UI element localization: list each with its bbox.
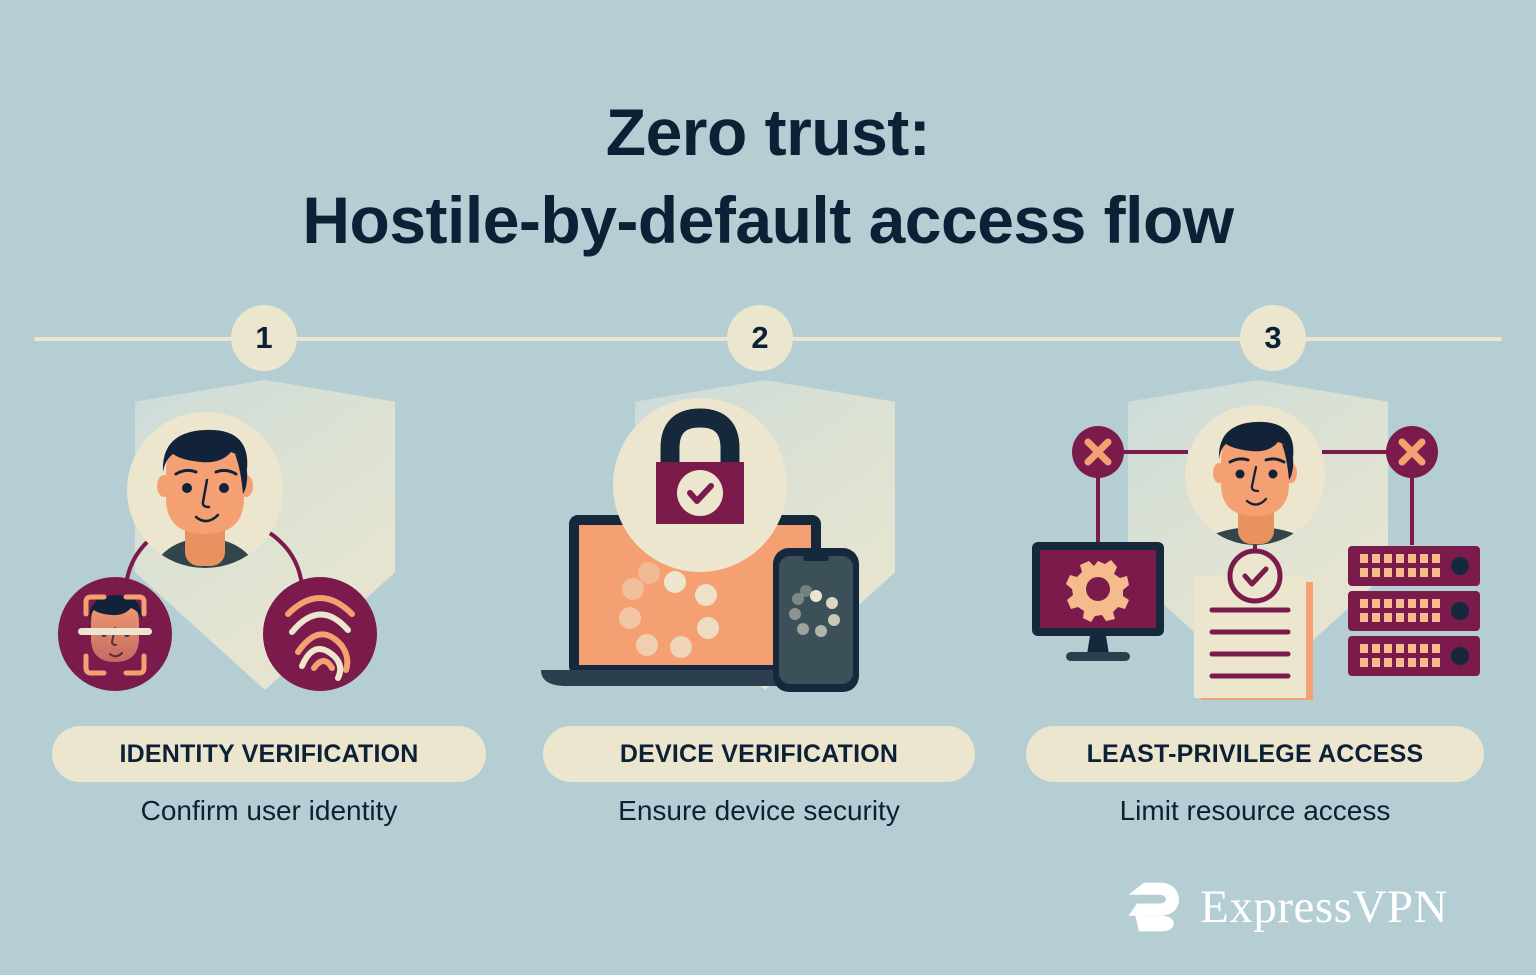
step-number-1: 1 <box>255 320 272 356</box>
step-marker-3: 3 <box>1240 305 1306 371</box>
step-caption-3: Limit resource access <box>1020 795 1490 827</box>
step-caption-1: Confirm user identity <box>34 795 504 827</box>
title-line-2: Hostile-by-default access flow <box>0 176 1536 264</box>
page-title: Zero trust: Hostile-by-default access fl… <box>0 88 1536 264</box>
blocked-x-icon-left <box>1072 426 1124 478</box>
smartphone-icon <box>773 548 859 692</box>
step-marker-2: 2 <box>727 305 793 371</box>
least-privilege-art-svg <box>1020 370 1490 700</box>
fingerprint-icon <box>263 577 377 691</box>
pill-text: LEAST-PRIVILEGE ACCESS <box>1087 740 1424 769</box>
document-check-icon <box>1194 551 1313 700</box>
device-art-svg <box>525 370 995 700</box>
pill-text: IDENTITY VERIFICATION <box>119 740 418 769</box>
step-number-3: 3 <box>1264 320 1281 356</box>
blocked-x-icon-right <box>1386 426 1438 478</box>
title-line-1: Zero trust: <box>606 95 931 169</box>
step-label-least-privilege-access: LEAST-PRIVILEGE ACCESS <box>1026 726 1484 782</box>
step-label-identity-verification: IDENTITY VERIFICATION <box>52 726 486 782</box>
padlock-check-icon <box>613 398 787 572</box>
expressvpn-logo: ExpressVPN <box>1118 876 1448 938</box>
step-number-2: 2 <box>751 320 768 356</box>
face-scan-icon <box>58 577 172 691</box>
expressvpn-wordmark: ExpressVPN <box>1200 884 1448 931</box>
pill-text: DEVICE VERIFICATION <box>620 740 898 769</box>
identity-art-svg <box>30 370 500 700</box>
infographic-canvas: Zero trust: Hostile-by-default access fl… <box>0 0 1536 975</box>
step-label-device-verification: DEVICE VERIFICATION <box>543 726 975 782</box>
monitor-gear-icon <box>1032 542 1164 661</box>
expressvpn-e-mark-icon <box>1118 876 1184 938</box>
step-caption-2: Ensure device security <box>524 795 994 827</box>
identity-verification-illustration <box>30 370 500 700</box>
device-verification-illustration <box>525 370 995 700</box>
least-privilege-illustration <box>1020 370 1490 700</box>
server-rack-icon <box>1348 546 1480 676</box>
step-marker-1: 1 <box>231 305 297 371</box>
